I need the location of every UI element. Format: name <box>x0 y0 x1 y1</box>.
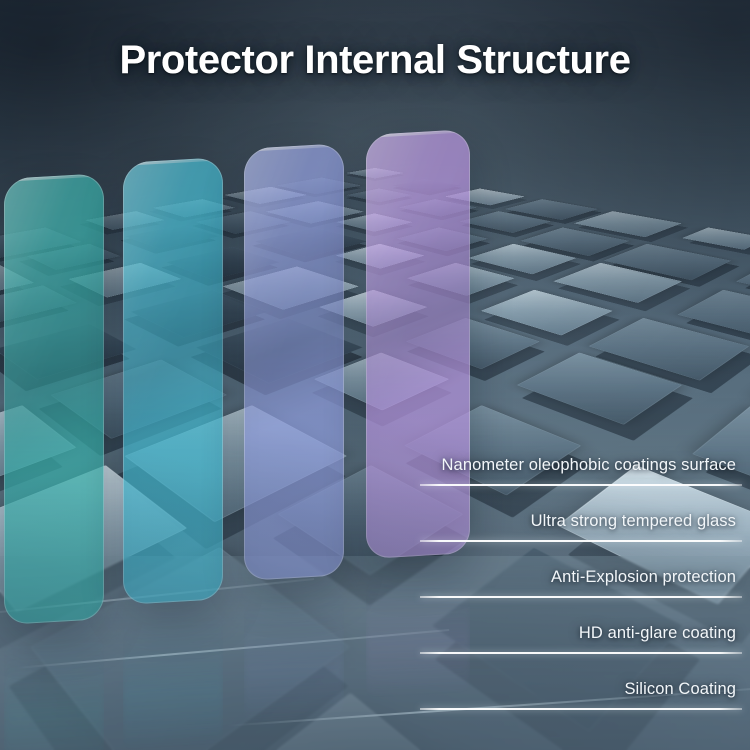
callout-leader-line <box>420 540 742 542</box>
callout-label: Ultra strong tempered glass <box>420 512 742 531</box>
callout-leader-line <box>420 484 742 486</box>
callout-item[interactable]: Silicon Coating <box>420 680 742 710</box>
callout-label: Nanometer oleophobic coatings surface <box>420 456 742 475</box>
panel-shadow-overlay <box>244 143 344 581</box>
callout-item[interactable]: Anti-Explosion protection <box>420 568 742 598</box>
callout-list: Nanometer oleophobic coatings surfaceUlt… <box>420 440 742 740</box>
callout-item[interactable]: Ultra strong tempered glass <box>420 512 742 542</box>
panel-sheen-overlay <box>244 143 344 581</box>
panel-shadow-overlay <box>4 173 104 625</box>
background-glass-block <box>682 227 750 249</box>
hd-anti-glare-layer[interactable] <box>123 157 223 605</box>
callout-leader-line <box>420 652 742 654</box>
callout-item[interactable]: HD anti-glare coating <box>420 624 742 654</box>
callout-label: HD anti-glare coating <box>420 624 742 643</box>
page-title: Protector Internal Structure <box>0 38 750 83</box>
panel-shadow-overlay <box>123 157 223 605</box>
panel-sheen-overlay <box>4 173 104 625</box>
callout-leader-line <box>420 708 742 710</box>
callout-leader-line <box>420 596 742 598</box>
product-infographic: Protector Internal Structure Nanometer o… <box>0 0 750 750</box>
anti-explosion-layer[interactable] <box>244 143 344 581</box>
callout-label: Anti-Explosion protection <box>420 568 742 587</box>
callout-label: Silicon Coating <box>420 680 742 699</box>
silicon-coating-layer[interactable] <box>4 173 104 625</box>
callout-item[interactable]: Nanometer oleophobic coatings surface <box>420 456 742 486</box>
panel-sheen-overlay <box>123 157 223 605</box>
background-glass-block <box>0 693 46 750</box>
